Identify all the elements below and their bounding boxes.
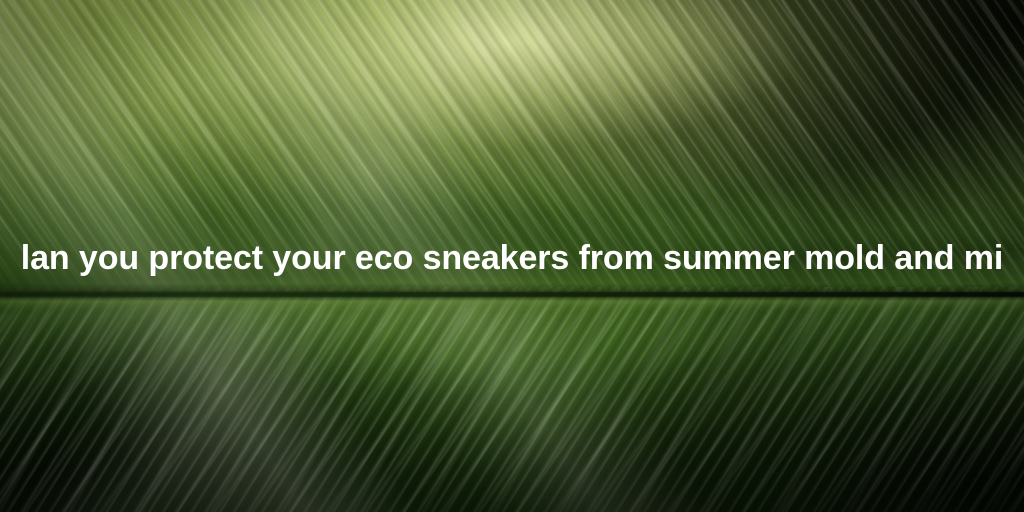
leaf-hero-banner: lan you protect your eco sneakers from s… (0, 0, 1024, 512)
leaf-background-image (0, 0, 1024, 512)
photo-vignette (0, 0, 1024, 512)
